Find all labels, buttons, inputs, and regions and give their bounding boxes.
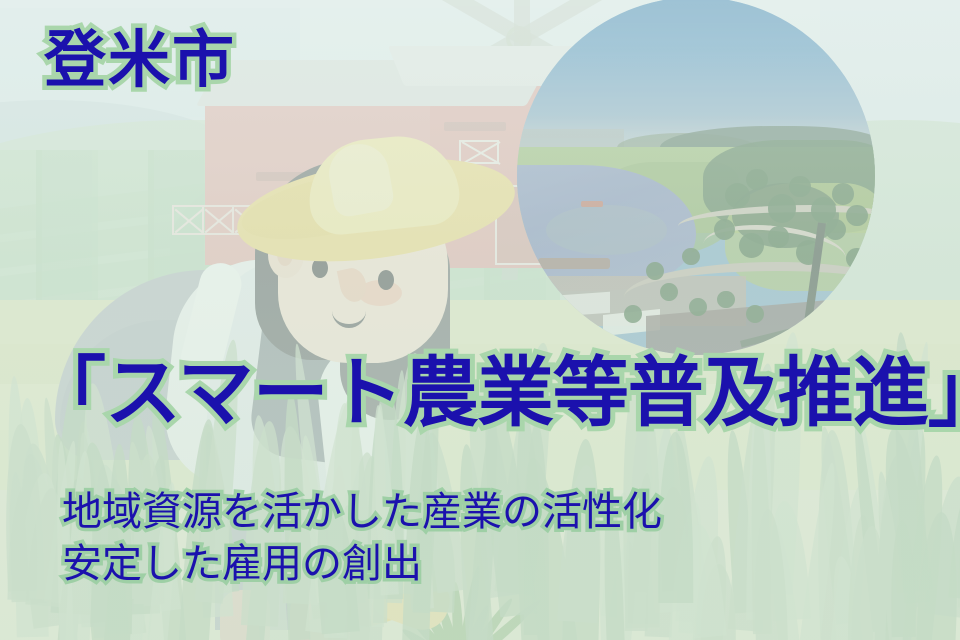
text-layer: 登米市 「スマート農業等普及推進」 地域資源を活かした産業の活性化 安定した雇用… xyxy=(0,0,960,640)
page-title: 「スマート農業等普及推進」 xyxy=(30,356,960,432)
banner-canvas: 登米市 「スマート農業等普及推進」 地域資源を活かした産業の活性化 安定した雇用… xyxy=(0,0,960,640)
city-name-label: 登米市 xyxy=(44,30,236,92)
subtitle-line-2: 安定した雇用の創出 xyxy=(62,544,422,584)
subtitle-line-1: 地域資源を活かした産業の活性化 xyxy=(62,492,662,532)
